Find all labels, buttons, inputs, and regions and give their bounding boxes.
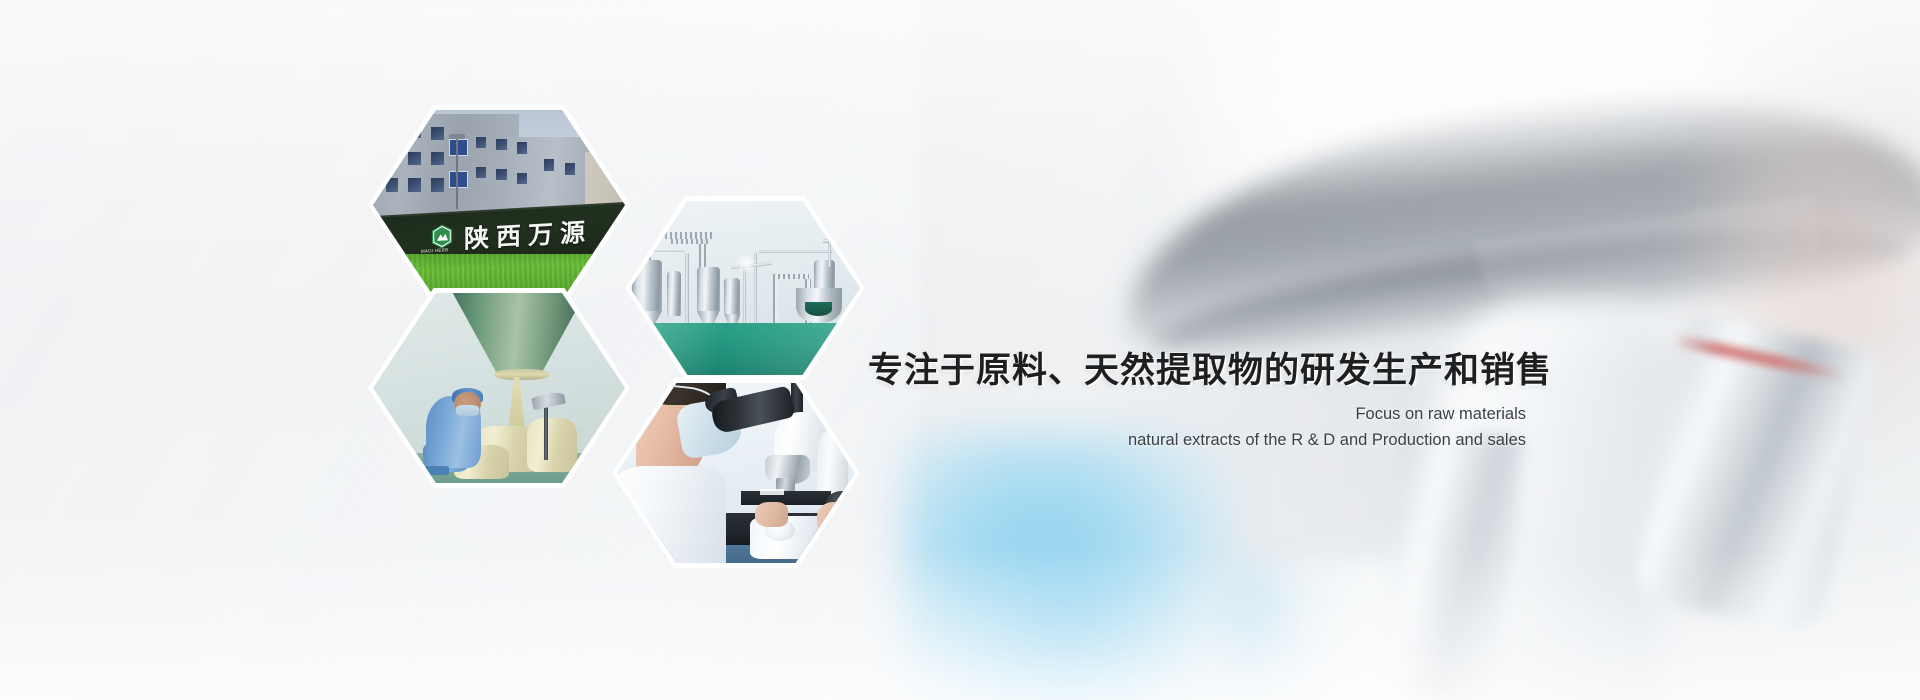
photo-hex-extraction-plant[interactable] xyxy=(625,196,865,380)
horizontal-pipe xyxy=(759,250,833,253)
window xyxy=(431,178,444,191)
scoop-handle xyxy=(544,399,548,460)
photo-hex-factory-gate[interactable]: MAGI HERB 陕西万源 xyxy=(368,105,630,305)
worker-face-mask xyxy=(456,405,479,416)
window xyxy=(496,169,506,180)
window xyxy=(476,137,486,148)
photo-hex-packing-worker-image xyxy=(373,293,625,483)
analyst-lab-coat xyxy=(617,466,726,563)
photo-hex-factory-gate-image: MAGI HERB 陕西万源 xyxy=(373,110,625,300)
window xyxy=(386,125,399,138)
window xyxy=(544,159,554,170)
microscope-stage xyxy=(741,491,831,505)
epoxy-floor-green xyxy=(630,323,860,375)
window xyxy=(431,152,444,165)
window xyxy=(408,152,421,165)
window xyxy=(496,139,506,150)
hedge-sign-text: 陕西万源 xyxy=(464,213,592,256)
window xyxy=(476,167,486,178)
hexagon-photo-cluster: MAGI HERB 陕西万源 xyxy=(0,0,920,620)
banner-headline: 专注于原料、天然提取物的研发生产和销售 xyxy=(868,352,1528,391)
window xyxy=(517,142,527,153)
wall-sign-upper xyxy=(449,139,469,156)
photo-hex-extraction-plant-image xyxy=(630,201,860,375)
window xyxy=(565,163,575,174)
horizontal-pipe xyxy=(823,239,855,242)
extraction-tank xyxy=(667,271,681,316)
hopper-outlet xyxy=(494,369,549,380)
microscope-slide xyxy=(760,489,784,494)
extraction-tank xyxy=(697,267,720,312)
hero-banner: MAGI HERB 陕西万源 xyxy=(0,0,1920,700)
company-logo-icon xyxy=(431,223,453,249)
catwalk-platform xyxy=(635,232,713,239)
light-pole xyxy=(456,137,458,209)
kettle-liquid xyxy=(805,302,833,316)
window xyxy=(408,125,421,138)
horizontal-pipe xyxy=(635,250,686,252)
banner-text-block: 专注于原料、天然提取物的研发生产和销售 Focus on raw materia… xyxy=(868,352,1528,450)
photo-hex-microscope-analyst[interactable] xyxy=(612,378,860,568)
analyst-hand-right xyxy=(817,502,855,538)
extraction-tank xyxy=(724,278,740,316)
wall-sign-lower xyxy=(449,171,469,188)
window xyxy=(408,178,421,191)
worker-shoe-cover xyxy=(421,466,449,476)
banner-subline-2: natural extracts of the R & D and Produc… xyxy=(868,431,1528,450)
photo-hex-microscope-analyst-image xyxy=(617,383,855,563)
window xyxy=(431,127,444,140)
photo-hex-packing-worker[interactable] xyxy=(368,288,630,488)
catwalk-support xyxy=(773,279,779,324)
analyst-hand-left xyxy=(755,502,788,527)
window xyxy=(386,178,399,191)
filled-sack xyxy=(527,418,577,471)
extraction-tank xyxy=(632,260,662,312)
window xyxy=(386,152,399,165)
catwalk-rail xyxy=(671,239,708,244)
banner-subline-1: Focus on raw materials xyxy=(868,405,1528,424)
vertical-pipe xyxy=(685,253,689,326)
vertical-pipe xyxy=(828,243,832,267)
window xyxy=(517,173,527,184)
